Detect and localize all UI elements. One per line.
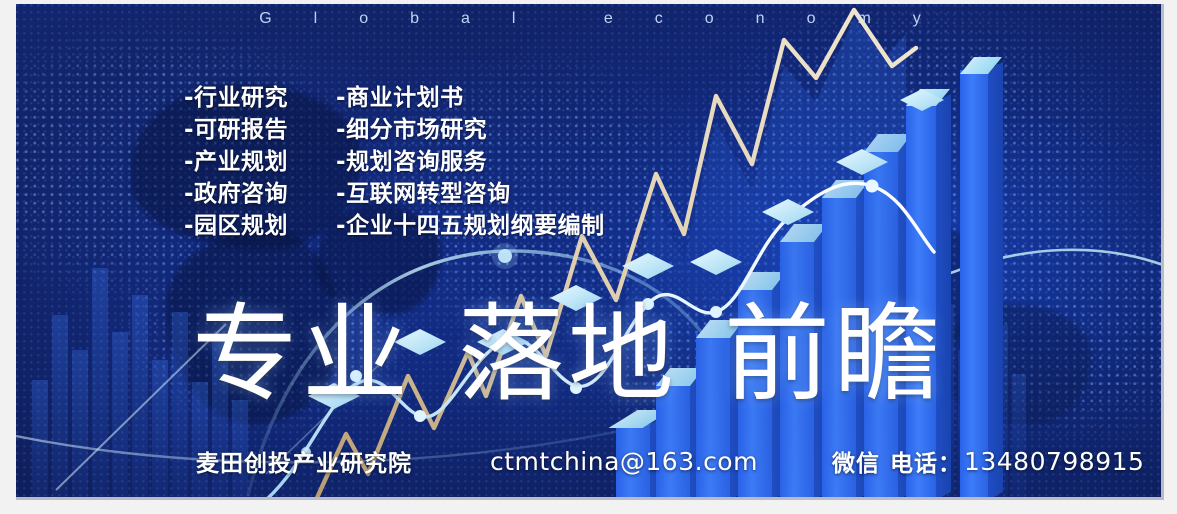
ghost-bar-5 <box>112 332 128 500</box>
tagline-global-economy: Global economy <box>16 10 1164 28</box>
phone-label: 电话： <box>890 444 962 478</box>
ghost-bar-7 <box>152 360 168 500</box>
service-item: -细分市场研究 <box>336 114 605 146</box>
ghost-bar-r8 <box>1012 374 1026 500</box>
ghost-bar-3 <box>72 350 88 500</box>
frame-edge-left <box>0 0 16 514</box>
footer-contact-row: 麦田创投产业研究院 ctmtchina@163.com 微信 电话： 13480… <box>196 444 1144 478</box>
headline: 专业 落地 前瞻 <box>192 300 944 410</box>
service-column-left: -行业研究 -可研报告 -产业规划 -政府咨询 -园区规划 <box>184 82 288 242</box>
service-column-right: -商业计划书 -细分市场研究 -规划咨询服务 -互联网转型咨询 -企业十四五规划… <box>336 82 605 242</box>
service-item: -行业研究 <box>184 82 288 114</box>
service-item: -互联网转型咨询 <box>336 178 605 210</box>
service-item: -企业十四五规划纲要编制 <box>336 210 605 242</box>
ghost-bar-8 <box>172 312 188 500</box>
service-item: -产业规划 <box>184 146 288 178</box>
ghost-bar-1 <box>32 380 48 500</box>
ghost-bar-4 <box>92 268 108 500</box>
email-address[interactable]: ctmtchina@163.com <box>490 447 758 476</box>
promo-banner: Global economy -行业研究 -可研报告 -产业规划 -政府咨询 -… <box>0 0 1177 514</box>
service-lists: -行业研究 -可研报告 -产业规划 -政府咨询 -园区规划 -商业计划书 -细分… <box>184 82 605 242</box>
service-item: -园区规划 <box>184 210 288 242</box>
chart-bar-9 <box>960 70 988 500</box>
frame-edge-right <box>1164 0 1177 514</box>
organization-name: 麦田创投产业研究院 <box>196 444 412 478</box>
phone-number[interactable]: 13480798915 <box>964 447 1144 476</box>
ghost-bar-6 <box>132 295 148 500</box>
frame-edge-bottom <box>0 500 1177 514</box>
wechat-label: 微信 <box>832 444 880 478</box>
ghost-bar-2 <box>52 315 68 500</box>
service-item: -商业计划书 <box>336 82 605 114</box>
service-item: -可研报告 <box>184 114 288 146</box>
banner-artboard: Global economy -行业研究 -可研报告 -产业规划 -政府咨询 -… <box>16 4 1164 500</box>
headline-word-2: 落地 <box>458 300 678 410</box>
service-item: -规划咨询服务 <box>336 146 605 178</box>
headline-word-3: 前瞻 <box>724 300 944 410</box>
headline-word-1: 专业 <box>192 300 412 410</box>
service-item: -政府咨询 <box>184 178 288 210</box>
